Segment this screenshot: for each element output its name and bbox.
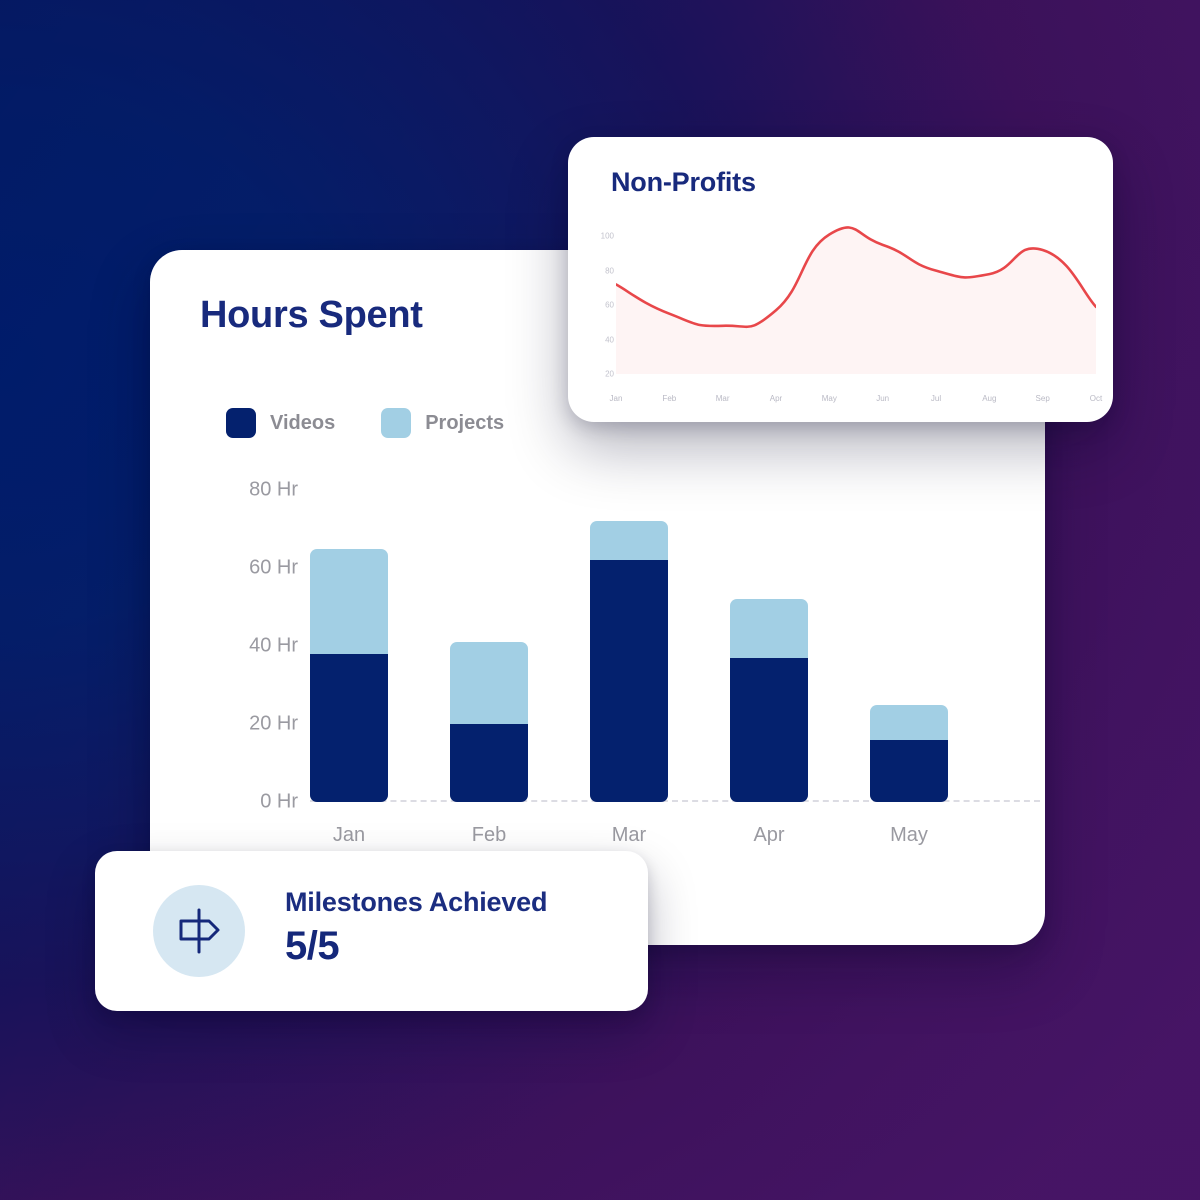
bar-segment-videos[interactable] <box>450 724 528 802</box>
signpost-icon-badge <box>153 885 245 977</box>
y-axis-tick-label: 40 Hr <box>249 635 298 658</box>
np-x-axis-tick-label: Oct <box>1090 394 1102 403</box>
legend-item-videos[interactable]: Videos <box>226 408 335 438</box>
legend-swatch-icon <box>381 408 411 438</box>
y-axis-tick-label: 0 Hr <box>260 791 298 814</box>
x-axis-tick-label: Jan <box>310 824 388 847</box>
bar-stack[interactable] <box>730 599 808 802</box>
bar-segment-projects[interactable] <box>590 521 668 560</box>
bar-stack[interactable] <box>870 705 948 803</box>
np-x-axis-tick-label: Sep <box>1036 394 1050 403</box>
bar-chart: 80 Hr60 Hr40 Hr20 Hr0 Hr JanFebMarAprMay <box>226 490 1016 830</box>
line-chart-svg <box>616 219 1096 374</box>
np-x-axis-tick-label: May <box>822 394 837 403</box>
signpost-icon <box>171 903 227 959</box>
milestones-label: Milestones Achieved <box>285 887 547 918</box>
milestones-text-block: Milestones Achieved 5/5 <box>285 887 547 969</box>
np-x-axis-tick-label: Jun <box>876 394 889 403</box>
np-y-axis-tick-label: 40 <box>588 335 614 344</box>
np-x-axis-tick-label: Feb <box>662 394 676 403</box>
legend-item-label: Videos <box>270 412 335 435</box>
x-axis-tick-label: May <box>870 824 948 847</box>
line-chart: 10080604020JanFebMarAprMayJunJulAugSepOc… <box>588 219 1096 401</box>
page-title: Hours Spent <box>200 294 423 337</box>
bar-stack[interactable] <box>590 521 668 802</box>
x-axis-tick-label: Mar <box>590 824 668 847</box>
non-profits-card: Non-Profits 10080604020JanFebMarAprMayJu… <box>568 137 1113 422</box>
milestones-card: Milestones Achieved 5/5 <box>95 851 648 1011</box>
legend-item-projects[interactable]: Projects <box>381 408 504 438</box>
bar-segment-projects[interactable] <box>450 642 528 724</box>
y-axis-labels: 80 Hr60 Hr40 Hr20 Hr0 Hr <box>226 490 302 830</box>
legend-swatch-icon <box>226 408 256 438</box>
np-y-axis-tick-label: 100 <box>588 232 614 241</box>
bar-segment-videos[interactable] <box>870 740 948 802</box>
np-x-axis-tick-label: Mar <box>716 394 730 403</box>
bar-stack[interactable] <box>310 549 388 803</box>
np-y-axis-tick-label: 60 <box>588 301 614 310</box>
np-x-axis-tick-label: Apr <box>770 394 782 403</box>
milestones-value: 5/5 <box>285 924 547 969</box>
bar-segment-videos[interactable] <box>590 560 668 802</box>
bar-segment-videos[interactable] <box>310 654 388 802</box>
x-axis-tick-label: Feb <box>450 824 528 847</box>
bars-container: JanFebMarAprMay <box>310 490 1016 802</box>
bar-segment-projects[interactable] <box>870 705 948 740</box>
np-x-axis-tick-label: Jul <box>931 394 941 403</box>
y-axis-tick-label: 60 Hr <box>249 557 298 580</box>
bar-segment-projects[interactable] <box>730 599 808 658</box>
np-y-axis-tick-label: 20 <box>588 370 614 379</box>
legend-item-label: Projects <box>425 412 504 435</box>
bar-stack[interactable] <box>450 642 528 802</box>
bar-segment-projects[interactable] <box>310 549 388 654</box>
np-y-axis-tick-label: 80 <box>588 266 614 275</box>
chart-legend: Videos Projects <box>226 408 504 438</box>
non-profits-title: Non-Profits <box>611 167 756 198</box>
bar-segment-videos[interactable] <box>730 658 808 802</box>
y-axis-tick-label: 80 Hr <box>249 479 298 502</box>
np-x-axis-tick-label: Aug <box>982 394 996 403</box>
y-axis-tick-label: 20 Hr <box>249 713 298 736</box>
x-axis-tick-label: Apr <box>730 824 808 847</box>
np-x-axis-tick-label: Jan <box>610 394 623 403</box>
